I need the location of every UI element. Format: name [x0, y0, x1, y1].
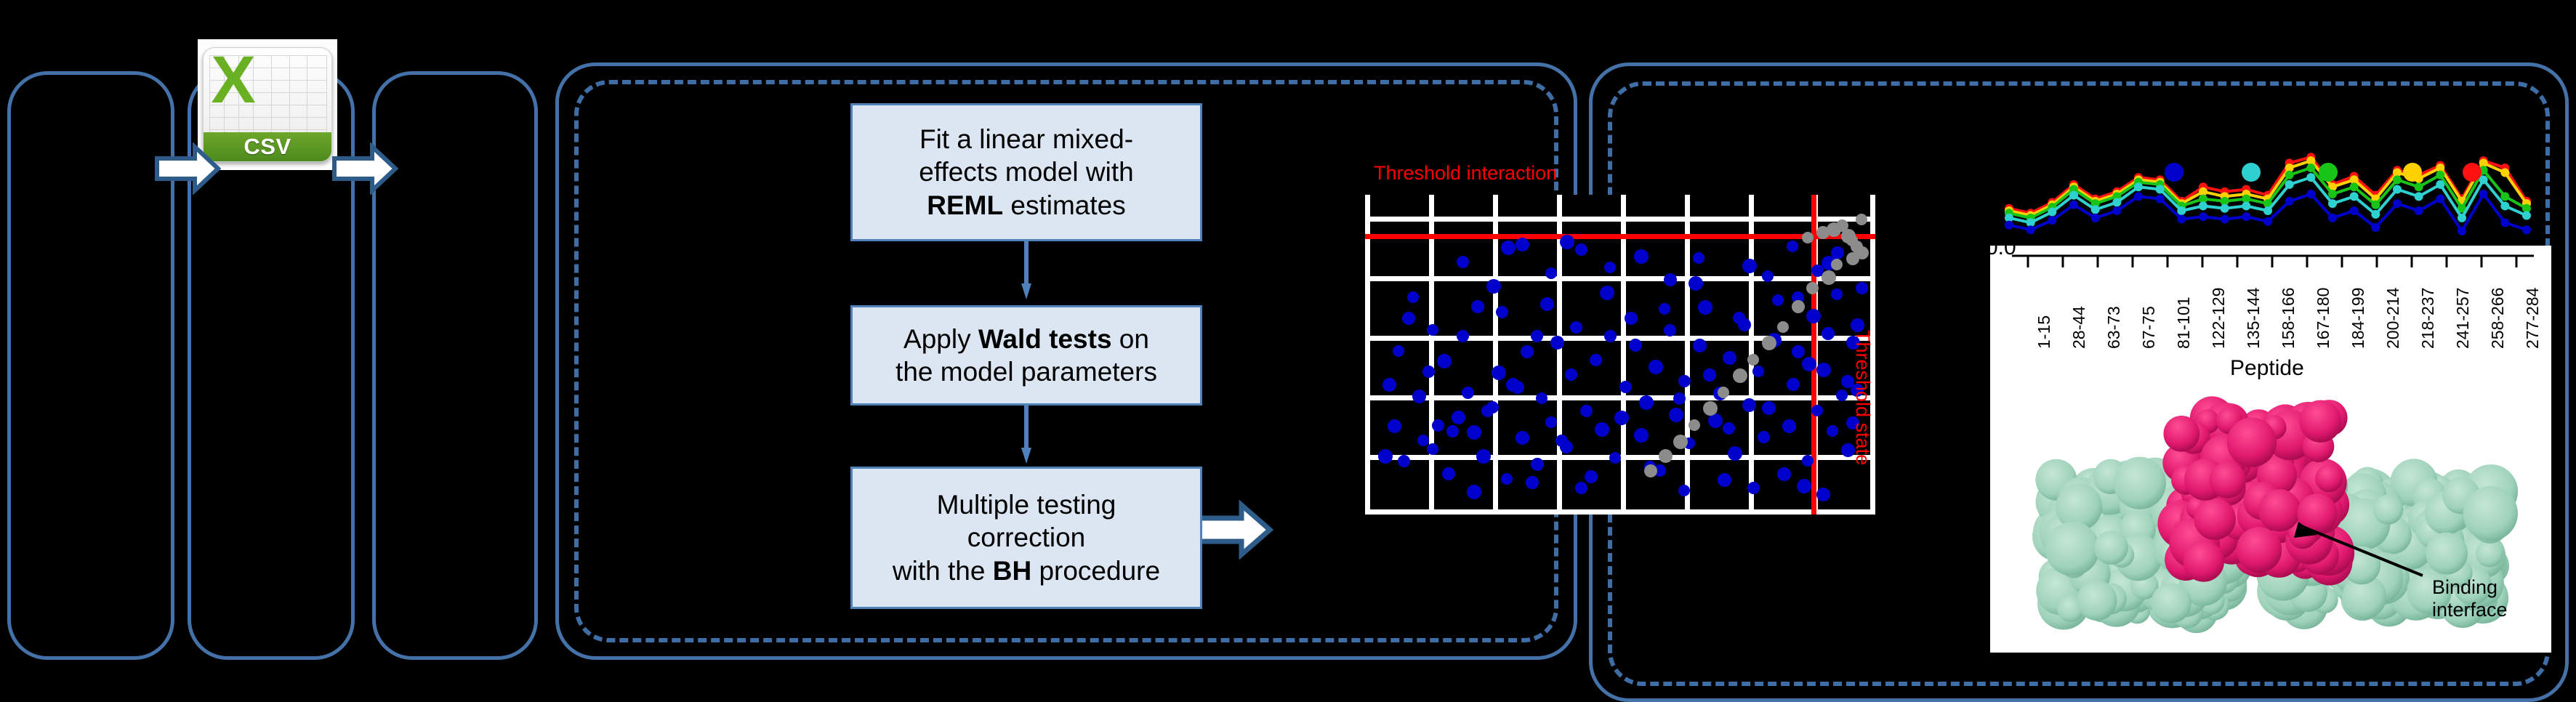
- peptide-tick-label: 167-180: [2314, 288, 2333, 349]
- scatter-dot-significant: [1417, 435, 1429, 446]
- protein-surface-blob: [2463, 486, 2518, 541]
- scatter-dot-significant: [1570, 321, 1582, 334]
- line-marker: [2285, 180, 2294, 189]
- scatter-dot-nonsignificant: [1762, 336, 1776, 350]
- line-marker: [2263, 206, 2272, 215]
- scatter-dot-significant: [1531, 458, 1544, 471]
- fit-model-bold: REML: [927, 190, 1003, 220]
- peptide-tick-label: 258-266: [2488, 288, 2508, 349]
- legend-dot-series-4: [2403, 163, 2422, 182]
- protein-surface-blob: [2151, 583, 2191, 623]
- scatter-dot-significant: [1496, 306, 1508, 318]
- scatter-dot-significant: [1398, 455, 1410, 467]
- scatter-dot-significant: [1467, 485, 1481, 499]
- line-marker: [2458, 227, 2466, 235]
- panel-data-source: [7, 71, 174, 660]
- line-marker: [2285, 197, 2294, 206]
- scatter-dot-significant: [1540, 297, 1554, 311]
- peptide-tick-label: 1-15: [2034, 315, 2054, 349]
- scatter-dot-significant: [1604, 330, 1617, 342]
- scatter-dot-significant: [1476, 449, 1491, 464]
- scatter-dot-significant: [1787, 241, 1798, 252]
- peptide-surface-blob: [2163, 416, 2199, 452]
- scatter-dot-significant: [1590, 354, 1602, 366]
- peptide-axis: [1990, 251, 2551, 278]
- process-box-bh-correction[interactable]: Multiple testing correction with the BH …: [850, 467, 1202, 609]
- legend-dot-series-5: [2463, 163, 2482, 182]
- scatter-dot-significant: [1772, 294, 1784, 306]
- scatter-dot-significant: [1545, 267, 1557, 279]
- binding-interface-annotation: Binding interface: [2432, 576, 2508, 621]
- wald-line1-post: on: [1112, 324, 1149, 354]
- line-marker: [2458, 214, 2466, 222]
- binding-interface-line1: Binding: [2432, 576, 2508, 599]
- line-marker: [2371, 223, 2380, 232]
- scatter-dot-significant: [1545, 416, 1557, 428]
- scatter-dot-significant: [1629, 339, 1642, 352]
- scatter-dot-significant: [1619, 381, 1632, 393]
- scatter-dot-significant: [1649, 360, 1663, 374]
- scatter-dot-significant: [1664, 273, 1677, 286]
- peptide-tick-label: 67-75: [2139, 306, 2159, 349]
- line-marker: [2069, 201, 2078, 209]
- legend-dot-series-1: [2165, 163, 2183, 182]
- scatter-dot-nonsignificant: [1689, 419, 1700, 431]
- scatter-dot-nonsignificant: [1777, 321, 1789, 333]
- line-marker: [2306, 190, 2315, 198]
- scatter-dot-significant: [1565, 368, 1577, 381]
- line-marker: [2199, 212, 2207, 221]
- peptide-surface-blob: [2183, 541, 2224, 581]
- scatter-dot-significant: [1501, 473, 1513, 485]
- scatter-dot-significant: [1446, 425, 1459, 437]
- peptide-surface-blob: [2258, 489, 2301, 531]
- scatter-dot-significant: [1604, 262, 1616, 273]
- scatter-dot-significant: [1703, 368, 1716, 382]
- scatter-dot-significant: [1831, 289, 1843, 300]
- scatter-dot-nonsignificant: [1718, 387, 1729, 398]
- scatter-dot-significant: [1777, 467, 1791, 481]
- line-marker: [2500, 169, 2509, 177]
- scatter-dot-significant: [1575, 243, 1587, 256]
- scatter-dot-significant: [1609, 452, 1621, 464]
- line-marker: [2306, 164, 2315, 172]
- line-marker: [2026, 225, 2035, 234]
- wald-bold: Wald tests: [978, 324, 1112, 354]
- line-marker: [2177, 206, 2186, 215]
- line-marker: [2350, 182, 2359, 191]
- scatter-dot-nonsignificant: [1822, 270, 1836, 285]
- scatter-dot-nonsignificant: [1806, 282, 1819, 294]
- threshold-state-label: Threshold state: [1851, 330, 1874, 465]
- peptide-surface-blob: [2194, 498, 2236, 540]
- scatter-dot-significant: [1492, 366, 1506, 380]
- line-marker: [2005, 221, 2013, 230]
- interaction-scatter-plot: [1365, 195, 1875, 515]
- wald-line1-pre: Apply: [903, 324, 978, 354]
- scatter-dot-significant: [1802, 455, 1814, 467]
- line-marker: [2328, 199, 2337, 208]
- peptide-tick-label: 122-129: [2209, 288, 2229, 349]
- arrow-to-model: [331, 142, 398, 195]
- scatter-dot-significant: [1669, 408, 1683, 422]
- protein-surface-blob: [2373, 495, 2403, 525]
- scatter-dot-significant: [1555, 435, 1568, 447]
- peptide-tick-label: 63-73: [2104, 306, 2124, 349]
- scatter-dot-nonsignificant: [1747, 354, 1759, 366]
- scatter-dot-significant: [1787, 378, 1800, 391]
- line-marker: [2371, 201, 2380, 209]
- scatter-dot-significant: [1822, 327, 1835, 340]
- line-marker: [2134, 192, 2143, 201]
- line-marker: [2199, 201, 2207, 210]
- connector-model-to-wald: [1021, 241, 1032, 302]
- line-marker: [2436, 195, 2444, 203]
- protein-surface-blob: [2476, 539, 2503, 567]
- scatter-dot-significant: [1742, 259, 1757, 273]
- line-marker: [2328, 214, 2337, 222]
- scatter-dot-significant: [1693, 339, 1707, 352]
- peptide-tick-label: 135-144: [2244, 288, 2263, 349]
- line-marker: [2263, 217, 2272, 226]
- flow-diagram-canvas: X CSV Fit a linear mixed- effects model …: [0, 0, 2576, 687]
- process-box-fit-model[interactable]: Fit a linear mixed- effects model with R…: [850, 103, 1202, 241]
- scatter-dot-significant: [1782, 419, 1796, 433]
- peptide-tick-label: 200-214: [2383, 288, 2403, 349]
- scatter-dot-significant: [1802, 357, 1816, 371]
- scatter-dot-nonsignificant: [1659, 449, 1673, 463]
- bh-line1: Multiple testing: [860, 488, 1193, 521]
- line-marker: [2415, 182, 2423, 191]
- peptide-tick-label: 81-101: [2174, 296, 2194, 349]
- line-marker: [2500, 192, 2509, 201]
- line-marker: [2242, 201, 2250, 210]
- scatter-dot-significant: [1402, 312, 1415, 325]
- threshold-interaction-label: Threshold interaction: [1374, 162, 1557, 185]
- line-marker: [2522, 211, 2531, 220]
- scatter-dot-significant: [1422, 366, 1435, 378]
- peptide-tick-label: 28-44: [2069, 306, 2089, 349]
- scatter-dot-significant: [1806, 309, 1821, 323]
- line-marker: [2500, 201, 2509, 210]
- line-marker: [2371, 210, 2380, 219]
- protein-surface-blob: [2426, 533, 2468, 575]
- scatter-dot-significant: [1758, 431, 1770, 443]
- scatter-dot-significant: [1678, 375, 1691, 387]
- bh-line3: with the BH procedure: [860, 554, 1193, 587]
- peptide-tick-label: 218-237: [2418, 288, 2438, 349]
- scatter-dot-significant: [1467, 425, 1481, 440]
- scatter-dot-significant: [1388, 419, 1401, 433]
- scatter-dot-significant: [1407, 291, 1419, 303]
- line-marker: [2350, 192, 2359, 201]
- line-marker: [2306, 173, 2315, 182]
- scatter-dot-significant: [1811, 405, 1823, 416]
- scatter-dot-significant: [1521, 345, 1534, 358]
- line-marker: [2393, 185, 2402, 193]
- scatter-dot-significant: [1471, 300, 1484, 313]
- scatter-dot-significant: [1752, 366, 1764, 377]
- wald-line1: Apply Wald tests on: [860, 323, 1193, 355]
- scatter-dot-significant: [1689, 276, 1703, 291]
- line-marker: [2350, 206, 2359, 215]
- scatter-dot-significant: [1382, 378, 1396, 392]
- scatter-dot-significant: [1718, 473, 1731, 487]
- protein-surface-blob: [2077, 581, 2117, 621]
- line-marker: [2522, 225, 2531, 234]
- peptide-surface-blob: [2315, 464, 2343, 492]
- scatter-dot-significant: [1393, 345, 1404, 357]
- bh-line2: correction: [860, 521, 1193, 554]
- scatter-dot-significant: [1816, 363, 1831, 377]
- scatter-dot-significant: [1511, 381, 1524, 394]
- scatter-dot-significant: [1728, 446, 1742, 461]
- scatter-dot-significant: [1442, 467, 1455, 480]
- scatter-dot-significant: [1595, 422, 1609, 437]
- scatter-dot-significant: [1836, 390, 1848, 401]
- scatter-dot-nonsignificant: [1802, 232, 1814, 243]
- scatter-dot-significant: [1575, 482, 1587, 494]
- line-marker: [2500, 218, 2509, 227]
- fit-model-line1: Fit a linear mixed-: [860, 123, 1193, 156]
- scatter-dot-significant: [1659, 303, 1670, 315]
- line-marker: [2221, 204, 2229, 213]
- scatter-dot-significant: [1762, 270, 1774, 282]
- scatter-dot-layer: [1365, 195, 1875, 515]
- peptide-surface-blob: [2237, 527, 2282, 573]
- scatter-dot-significant: [1762, 401, 1776, 415]
- protein-surface-blob: [2114, 457, 2166, 509]
- scatter-dot-significant: [1723, 351, 1736, 365]
- wald-line2: the model parameters: [860, 355, 1193, 388]
- peptide-tick-label: 241-257: [2453, 288, 2473, 349]
- scatter-dot-significant: [1698, 300, 1712, 315]
- scatter-dot-nonsignificant: [1846, 252, 1859, 265]
- scatter-dot-significant: [1856, 282, 1868, 294]
- legend-dot-series-2: [2242, 163, 2261, 182]
- line-marker: [2134, 182, 2143, 191]
- line-marker: [2415, 206, 2423, 215]
- scatter-dot-significant: [1437, 354, 1452, 368]
- bh-line3-pre: with the: [893, 556, 993, 586]
- line-marker: [2285, 171, 2294, 179]
- scatter-dot-nonsignificant: [1644, 464, 1657, 477]
- line-marker: [2479, 175, 2488, 184]
- scatter-dot-significant: [1678, 485, 1690, 496]
- scatter-dot-significant: [1634, 428, 1649, 443]
- scatter-dot-significant: [1526, 476, 1539, 489]
- scatter-dot-significant: [1412, 390, 1426, 403]
- peptide-surface-blob: [2299, 400, 2341, 443]
- peptide-tick-label: 277-284: [2523, 288, 2543, 349]
- line-marker: [2328, 190, 2337, 198]
- line-marker: [2436, 171, 2444, 179]
- line-marker: [2242, 212, 2250, 221]
- scatter-dot-significant: [1462, 387, 1474, 399]
- process-box-wald-tests[interactable]: Apply Wald tests on the model parameters: [850, 305, 1202, 406]
- scatter-dot-significant: [1797, 479, 1811, 493]
- scatter-dot-significant: [1516, 238, 1529, 251]
- line-marker: [2091, 214, 2100, 222]
- line-marker: [2221, 214, 2229, 223]
- scatter-dot-significant: [1827, 425, 1838, 437]
- line-marker: [2156, 195, 2165, 203]
- peptide-surface-blob: [2227, 418, 2277, 467]
- scatter-dot-significant: [1452, 411, 1465, 424]
- protein-surface-blob: [2094, 530, 2128, 565]
- scatter-dot-significant: [1742, 398, 1756, 412]
- scatter-dot-significant: [1747, 482, 1760, 494]
- scatter-dot-significant: [1673, 392, 1686, 405]
- line-marker: [2415, 192, 2423, 201]
- scatter-dot-significant: [1481, 405, 1494, 417]
- structure-figure-card: 0.0 1-1528-4463-7367-75: [1990, 246, 2551, 653]
- scatter-dot-significant: [1639, 395, 1654, 410]
- peptide-tick-label: 158-166: [2279, 288, 2298, 349]
- peptide-tick-label: 184-199: [2348, 288, 2368, 349]
- line-marker: [2069, 191, 2078, 200]
- line-marker: [2091, 205, 2100, 214]
- arrow-into-data: [154, 142, 221, 195]
- line-marker: [2048, 208, 2056, 217]
- peptide-tick-labels: 1-1528-4463-7367-7581-101122-129135-1441…: [1990, 275, 2551, 355]
- scatter-dot-significant: [1664, 324, 1676, 336]
- scatter-dot-significant: [1427, 443, 1438, 455]
- scatter-dot-nonsignificant: [1733, 368, 1747, 383]
- fit-model-line2: effects model with: [860, 156, 1193, 188]
- scatter-dot-significant: [1501, 241, 1516, 255]
- scatter-dot-nonsignificant: [1673, 435, 1688, 449]
- bh-line3-post: procedure: [1031, 556, 1160, 586]
- scatter-dot-significant: [1831, 246, 1844, 259]
- scatter-dot-significant: [1550, 336, 1564, 350]
- scatter-dot-significant: [1457, 330, 1469, 342]
- line-marker: [2156, 185, 2165, 193]
- line-marker: [2112, 206, 2121, 215]
- line-marker: [2436, 180, 2444, 189]
- scatter-dot-nonsignificant: [1831, 259, 1843, 270]
- protein-surface-blob: [2045, 522, 2100, 576]
- scatter-dot-significant: [1634, 249, 1649, 264]
- scatter-dot-significant: [1427, 324, 1438, 336]
- csv-band: CSV: [204, 132, 331, 161]
- scatter-dot-significant: [1531, 330, 1543, 342]
- scatter-dot-nonsignificant: [1856, 214, 1867, 225]
- scatter-dot-significant: [1792, 345, 1805, 358]
- line-marker: [2048, 216, 2056, 225]
- connector-wald-to-bh: [1021, 406, 1032, 467]
- scatter-dot-significant: [1457, 256, 1469, 268]
- scatter-dot-significant: [1580, 405, 1593, 417]
- line-marker: [2177, 214, 2186, 223]
- binding-interface-line2: interface: [2432, 599, 2508, 621]
- line-marker: [2112, 198, 2121, 207]
- fit-model-line3: REML estimates: [860, 189, 1193, 222]
- scatter-dot-significant: [1378, 449, 1393, 464]
- legend-dot-series-3: [2319, 163, 2338, 182]
- scatter-dot-significant: [1486, 279, 1501, 294]
- scatter-dot-significant: [1585, 470, 1598, 483]
- scatter-dot-significant: [1614, 411, 1629, 425]
- scatter-dot-significant: [1600, 286, 1614, 300]
- peptide-surface-blob: [2210, 462, 2246, 499]
- scatter-dot-nonsignificant: [1792, 300, 1805, 313]
- scatter-dot-significant: [1625, 312, 1638, 325]
- scatter-dot-significant: [1693, 252, 1704, 264]
- excel-x-letter-icon: X: [208, 52, 259, 108]
- line-marker: [2393, 175, 2402, 184]
- fit-model-line3-rest: estimates: [1003, 190, 1126, 220]
- line-marker: [2479, 190, 2488, 198]
- csv-label: CSV: [243, 134, 291, 160]
- line-marker: [2393, 199, 2402, 208]
- arrow-to-results: [1195, 500, 1273, 560]
- bh-bold: BH: [993, 556, 1031, 586]
- scatter-dot-significant: [1816, 488, 1830, 501]
- scatter-dot-significant: [1536, 392, 1547, 404]
- scatter-dot-significant: [1733, 312, 1745, 324]
- csv-file-icon: X CSV: [203, 47, 332, 162]
- scatter-dot-significant: [1723, 422, 1735, 435]
- scatter-dot-significant: [1560, 235, 1574, 249]
- scatter-dot-significant: [1516, 431, 1529, 445]
- scatter-dot-significant: [1432, 419, 1444, 432]
